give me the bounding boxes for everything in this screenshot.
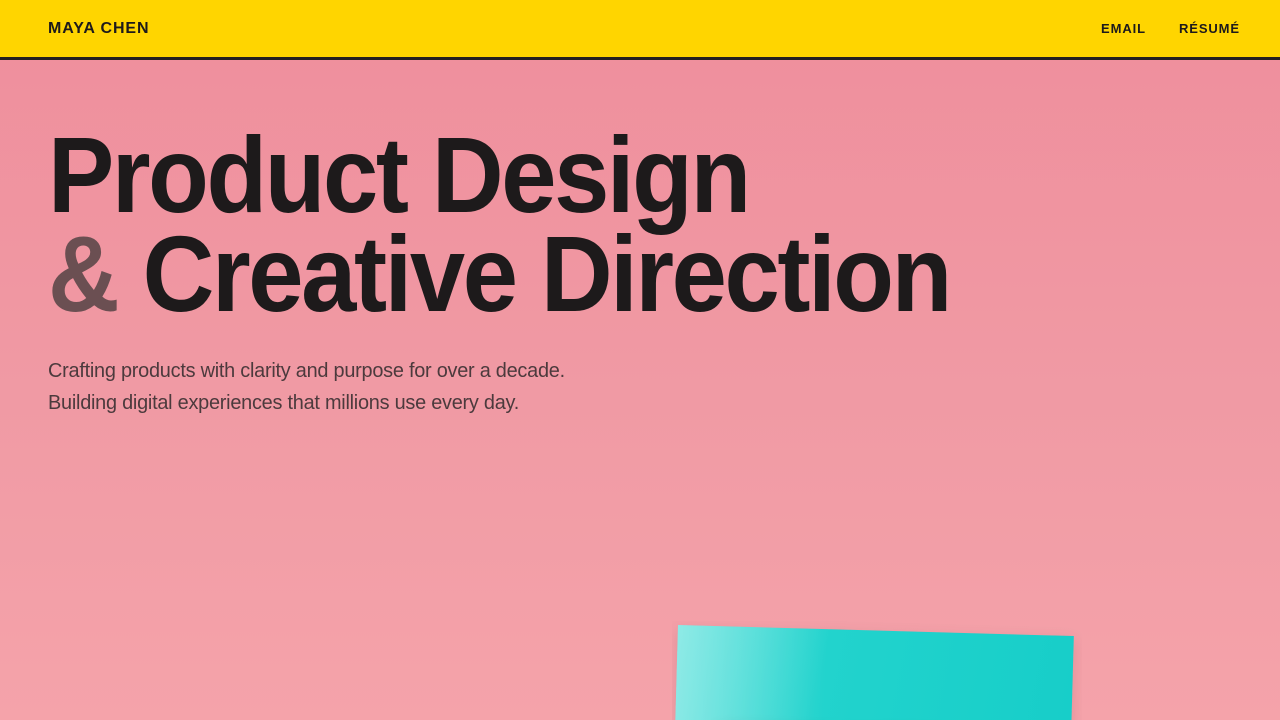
teal-backdrop-board: The ZIN	[672, 625, 1074, 720]
board-highlight	[672, 625, 828, 720]
hero-title-line-2-text: Creative Direction	[143, 213, 950, 334]
nav-link-email[interactable]: EMAIL	[1101, 21, 1146, 36]
site-header: MAYA CHEN EMAIL RÉSUMÉ	[0, 0, 1280, 60]
nav-link-resume[interactable]: RÉSUMÉ	[1179, 21, 1240, 36]
portfolio-landing-page: MAYA CHEN EMAIL RÉSUMÉ Product Design & …	[0, 0, 1280, 720]
ampersand-glyph: &	[48, 213, 117, 334]
hero-subtitle: Crafting products with clarity and purpo…	[48, 355, 565, 419]
primary-nav: EMAIL RÉSUMÉ	[1101, 21, 1240, 36]
hero-section: Product Design & Creative Direction Craf…	[0, 63, 1280, 720]
page-title: Product Design & Creative Direction	[48, 125, 950, 324]
hero-subtitle-line-2: Building digital experiences that millio…	[48, 387, 565, 419]
hero-subtitle-line-1: Crafting products with clarity and purpo…	[48, 355, 565, 387]
hero-title-line-2: & Creative Direction	[48, 224, 950, 323]
brand-wordmark[interactable]: MAYA CHEN	[48, 20, 149, 38]
hero-title-line-1: Product Design	[48, 125, 950, 224]
hero-photo-magazine: The ZIN	[672, 621, 1082, 720]
